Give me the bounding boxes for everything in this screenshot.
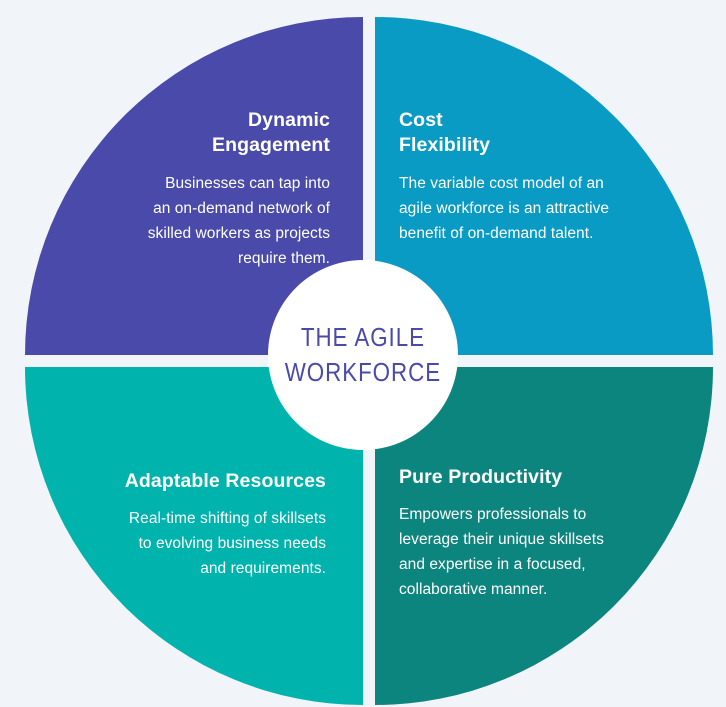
quadrant-text-dynamic-engagement: Dynamic Engagement Businesses can tap in… [112, 108, 330, 272]
center-title: THE AGILE WORKFORCE [285, 320, 441, 389]
quadrant-text-cost-flexibility: Cost Flexibility The variable cost model… [399, 108, 644, 246]
quadrant-heading-cost-flexibility: Cost Flexibility [399, 108, 644, 157]
quadrant-body-cost-flexibility: The variable cost model of an agile work… [399, 171, 644, 246]
quadrant-heading-pure-productivity: Pure Productivity [399, 465, 639, 490]
quadrant-text-pure-productivity: Pure Productivity Empowers professionals… [399, 465, 639, 602]
quadrant-body-dynamic-engagement: Businesses can tap into an on-demand net… [112, 171, 330, 271]
quadrant-text-adaptable-resources: Adaptable Resources Real-time shifting o… [98, 469, 326, 581]
quadrant-heading-dynamic-engagement: Dynamic Engagement [112, 108, 330, 157]
quadrant-body-pure-productivity: Empowers professionals to leverage their… [399, 502, 639, 602]
quadrant-body-adaptable-resources: Real-time shifting of skillsets to evolv… [98, 506, 326, 581]
quadrant-heading-adaptable-resources: Adaptable Resources [98, 469, 326, 494]
center-medallion: THE AGILE WORKFORCE [268, 260, 458, 450]
agile-workforce-infographic: Dynamic Engagement Businesses can tap in… [0, 0, 726, 707]
